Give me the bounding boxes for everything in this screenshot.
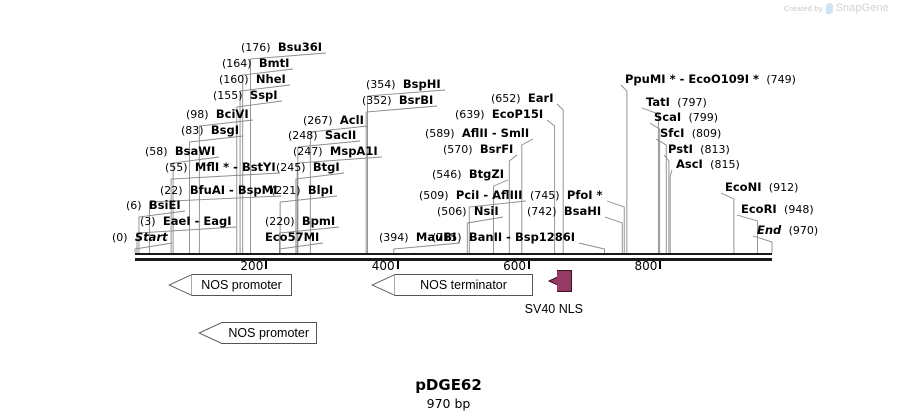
site-enzyme-name: PciI - AflIII (456, 188, 523, 202)
site-leader-line (607, 201, 624, 253)
site-leader-line (279, 243, 323, 253)
site-position: (352) (362, 94, 392, 107)
site-position: (745) (530, 189, 560, 202)
site-enzyme-name: AclI (340, 113, 364, 127)
restriction-site-label: PpuMI * - EcoO109I * (749) (625, 73, 796, 86)
site-leader-line (664, 155, 669, 253)
ruler-tick (659, 261, 661, 269)
restriction-site-label: (509) PciI - AflIII (419, 189, 522, 202)
site-leader-line (642, 108, 658, 253)
site-enzyme-name: BspHI (403, 77, 441, 91)
site-enzyme-name: BtgZI (469, 167, 504, 181)
feature-arrow-label: NOS promoter (192, 274, 292, 296)
feature-arrow-label (557, 270, 572, 292)
restriction-site-label: (22) BfuAI - BspMI (160, 184, 277, 197)
watermark-created-by-label: Created by (784, 4, 823, 13)
site-enzyme-name: Bsu36I (278, 40, 322, 54)
feature-arrow[interactable] (548, 270, 572, 292)
restriction-site-label: EcoRI (948) (741, 203, 814, 216)
restriction-site-label: (745) PfoI * (530, 189, 603, 202)
dna-backbone-top-strand (135, 253, 772, 255)
site-position: (799) (688, 111, 718, 124)
restriction-site-label: (155) SspI (213, 89, 278, 102)
site-leader-line (670, 170, 672, 253)
site-position: (22) (160, 184, 183, 197)
site-position: (715) (432, 231, 462, 244)
site-position: (58) (145, 145, 168, 158)
restriction-site-label: (58) BsaWI (145, 145, 215, 158)
site-enzyme-name: PstI (668, 142, 693, 156)
restriction-site-label: (247) MspA1I (293, 145, 378, 158)
restriction-site-label: (248) SacII (288, 129, 356, 142)
site-enzyme-name: BtgI (313, 160, 340, 174)
site-position: (652) (491, 92, 521, 105)
site-enzyme-name: SspI (250, 88, 278, 102)
restriction-site-label: (3) EaeI - EagI (140, 215, 232, 228)
restriction-site-label: (652) EarI (491, 92, 553, 105)
site-leader-line (737, 215, 758, 253)
restriction-site-label: (164) BmtI (222, 57, 289, 70)
site-position: (589) (425, 127, 455, 140)
site-enzyme-name: AscI (676, 157, 703, 171)
restriction-site-label: (83) BsgI (181, 124, 239, 137)
site-leader-line (650, 123, 660, 253)
restriction-site-label: (715) BanII - Bsp1286I (432, 231, 575, 244)
restriction-site-label: (98) BciVI (186, 108, 249, 121)
site-position: (639) (455, 108, 485, 121)
site-position: (813) (700, 143, 730, 156)
site-enzyme-name: BfuAI - BspMI (190, 183, 277, 197)
restriction-site-label: (354) BspHI (366, 78, 441, 91)
site-leader-line (621, 85, 627, 253)
site-enzyme-name: SfcI (660, 126, 684, 140)
site-leader-line (656, 139, 666, 253)
site-leader-line (721, 193, 734, 253)
site-enzyme-name: PpuMI * - EcoO109I * (625, 72, 759, 86)
restriction-site-label: EcoNI (912) (725, 181, 798, 194)
site-enzyme-name: PfoI * (567, 188, 603, 202)
site-position: (221) (271, 184, 301, 197)
site-position: (245) (276, 161, 306, 174)
feature-arrow-head-icon (548, 270, 557, 292)
site-enzyme-name: EaeI - EagI (163, 214, 232, 228)
site-position: (6) (126, 199, 142, 212)
site-enzyme-name: Eco57MI (265, 230, 319, 244)
site-position: (570) (443, 143, 473, 156)
site-position: (948) (784, 203, 814, 216)
site-enzyme-name: Start (135, 230, 168, 244)
site-position: (248) (288, 129, 318, 142)
site-position: (247) (293, 145, 323, 158)
restriction-site-label: SfcI (809) (660, 127, 721, 140)
site-position: (815) (710, 158, 740, 171)
site-position: (3) (140, 215, 156, 228)
restriction-site-label: (245) BtgI (276, 161, 340, 174)
site-enzyme-name: BsgI (211, 123, 239, 137)
restriction-site-label: (55) MflI * - BstYI (165, 161, 276, 174)
site-enzyme-name: AflII - SmlI (462, 126, 529, 140)
site-enzyme-name: EcoRI (741, 202, 777, 216)
restriction-site-label: (639) EcoP15I (455, 108, 543, 121)
site-position: (509) (419, 189, 449, 202)
ruler-tick (265, 261, 267, 269)
site-position: (809) (692, 127, 722, 140)
site-leader-line (579, 243, 605, 253)
site-position: (742) (527, 205, 557, 218)
plasmid-length-label: 970 bp (0, 396, 897, 411)
site-enzyme-name: NheI (256, 72, 286, 86)
ruler-tick-label: 600 (503, 259, 528, 273)
feature-arrow-label: NOS promoter (221, 322, 317, 344)
feature-caption: SV40 NLS (525, 302, 583, 316)
site-leader-line (135, 243, 172, 253)
restriction-site-label: TatI (797) (646, 96, 707, 109)
restriction-site-label: PstI (813) (668, 143, 730, 156)
page-title: pDGE62 (0, 376, 897, 394)
site-position: (394) (379, 231, 409, 244)
site-position: (55) (165, 161, 188, 174)
site-enzyme-name: BmtI (259, 56, 290, 70)
ruler-tick (397, 261, 399, 269)
ruler-tick-label: 800 (634, 259, 659, 273)
restriction-site-label: (6) BsiEI (126, 199, 181, 212)
feature-arrow-head-icon (168, 274, 192, 296)
restriction-site-label: (176) Bsu36I (241, 41, 322, 54)
dna-backbone-bottom-strand (135, 258, 772, 261)
site-position: (220) (265, 215, 295, 228)
restriction-site-label: (506) NsiI (437, 205, 499, 218)
site-position: (160) (219, 73, 249, 86)
site-position: (354) (366, 78, 396, 91)
site-enzyme-name: MspA1I (330, 144, 378, 158)
site-position: (797) (677, 96, 707, 109)
restriction-site-label: (546) BtgZI (432, 168, 504, 181)
site-enzyme-name: EcoP15I (492, 107, 543, 121)
site-leader-line (394, 243, 460, 253)
site-enzyme-name: BsrFI (480, 142, 513, 156)
feature-arrow-head-icon (198, 322, 221, 344)
restriction-site-label: (0) Start (112, 231, 168, 244)
site-enzyme-name: End (757, 223, 781, 237)
site-enzyme-name: EarI (528, 91, 554, 105)
site-position: (98) (186, 108, 209, 121)
site-enzyme-name: TatI (646, 95, 670, 109)
site-position: (155) (213, 89, 243, 102)
ruler-tick-label: 400 (372, 259, 397, 273)
site-position: (912) (769, 181, 799, 194)
site-enzyme-name: MflI * - BstYI (195, 160, 276, 174)
restriction-site-label: Eco57MI (265, 231, 319, 243)
site-position: (176) (241, 41, 271, 54)
site-leader-line (753, 236, 772, 253)
site-position: (164) (222, 57, 252, 70)
restriction-site-label: ScaI (799) (654, 111, 718, 124)
site-enzyme-name: BsrBI (399, 93, 433, 107)
site-enzyme-name: BciVI (216, 107, 249, 121)
snapgene-logo-icon (825, 3, 832, 14)
ruler-tick (528, 261, 530, 269)
watermark-brand-label: SnapGene (836, 2, 889, 14)
restriction-site-label: (267) AclI (303, 114, 364, 127)
restriction-site-label: (352) BsrBI (362, 94, 433, 107)
restriction-site-label: (160) NheI (219, 73, 286, 86)
restriction-site-label: AscI (815) (676, 158, 740, 171)
site-position: (506) (437, 205, 467, 218)
restriction-site-label: (221) BlpI (271, 184, 333, 197)
restriction-site-label: (220) BpmI (265, 215, 335, 228)
site-position: (0) (112, 231, 128, 244)
site-position: (546) (432, 168, 462, 181)
site-enzyme-name: BpmI (302, 214, 335, 228)
restriction-site-label: (589) AflII - SmlI (425, 127, 529, 140)
restriction-site-label: End (970) (757, 224, 818, 237)
ruler-tick-label: 200 (240, 259, 265, 273)
site-enzyme-name: BsiEI (149, 198, 181, 212)
restriction-site-label: (570) BsrFI (443, 143, 513, 156)
feature-arrow[interactable]: NOS promoter (168, 274, 292, 296)
site-position: (749) (766, 73, 796, 86)
feature-arrow[interactable]: NOS promoter (198, 322, 317, 344)
feature-arrow[interactable]: NOS terminator (371, 274, 533, 296)
feature-arrow-label: NOS terminator (395, 274, 533, 296)
site-enzyme-name: EcoNI (725, 180, 761, 194)
site-enzyme-name: ScaI (654, 110, 681, 124)
restriction-site-label: (742) BsaHI (527, 205, 601, 218)
site-enzyme-name: BsaWI (175, 144, 215, 158)
feature-arrow-head-icon (371, 274, 395, 296)
site-position: (267) (303, 114, 333, 127)
site-enzyme-name: BsaHI (564, 204, 601, 218)
site-position: (83) (181, 124, 204, 137)
site-position: (970) (789, 224, 819, 237)
plasmid-map: Created by SnapGene (0) Start(3) EaeI - … (0, 0, 897, 417)
snapgene-watermark: Created by SnapGene (784, 2, 889, 14)
site-enzyme-name: BanII - Bsp1286I (469, 230, 575, 244)
site-enzyme-name: BlpI (308, 183, 333, 197)
site-enzyme-name: NsiI (474, 204, 499, 218)
site-leader-line (605, 217, 622, 253)
site-enzyme-name: SacII (325, 128, 356, 142)
